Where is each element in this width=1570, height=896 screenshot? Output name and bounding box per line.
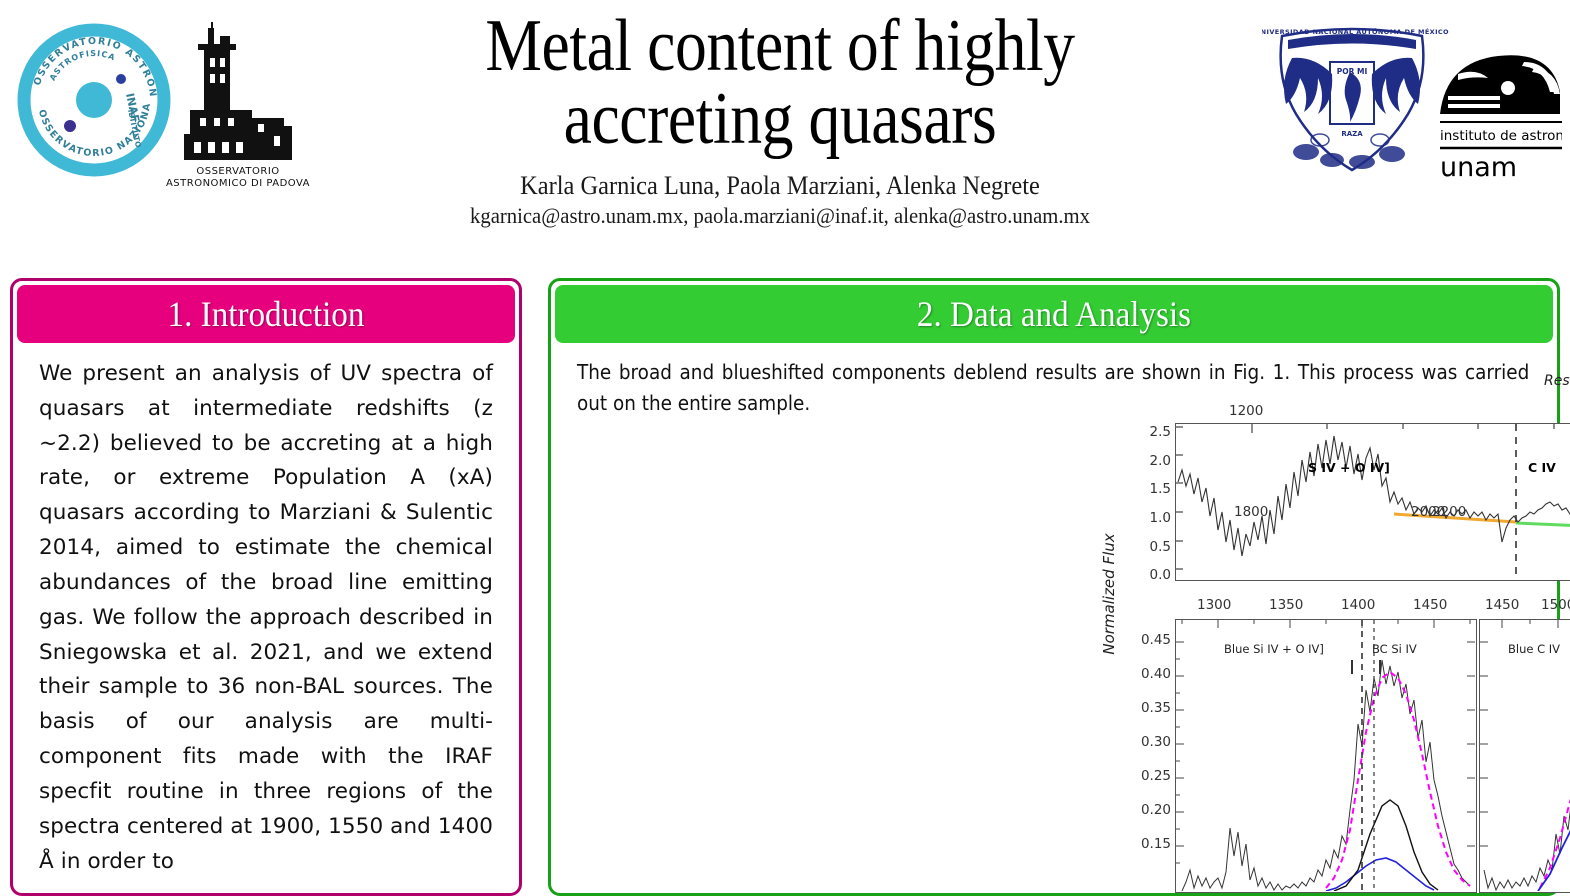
label-civ: C IV <box>1528 460 1556 475</box>
section-introduction-header: 1. Introduction <box>17 285 515 343</box>
logo-left-caption-2: ASTRONOMICO DI PADOVA <box>166 178 310 189</box>
page-title: Metal content of highly accreting quasar… <box>367 4 1193 155</box>
xtick-1300: 1300 <box>1197 597 1231 613</box>
ytick-0.40: 0.40 <box>1125 666 1171 682</box>
top-ytick-1.0: 1.0 <box>1133 510 1171 526</box>
ytick-0.35: 0.35 <box>1125 700 1171 716</box>
poster-body: 1. Introduction We present an analysis o… <box>0 268 1570 896</box>
svg-text:RAZA: RAZA <box>1341 130 1363 138</box>
top-ytick-2.5: 2.5 <box>1133 424 1171 440</box>
xtick-1400: 1400 <box>1341 597 1375 613</box>
top-ytick-2.0: 2.0 <box>1133 453 1171 469</box>
figure-y-axis-label: Normalized Flux <box>1100 533 1118 654</box>
region-1400-plot <box>1176 620 1475 891</box>
ytick-0.25: 0.25 <box>1125 768 1171 784</box>
full-spectrum-plot <box>1176 424 1570 579</box>
xtick-1500: 1500 <box>1541 597 1570 613</box>
svg-text:POR MI: POR MI <box>1337 67 1368 76</box>
section-introduction: 1. Introduction We present an analysis o… <box>10 278 522 896</box>
tickmark-blue-siiv <box>1351 660 1353 674</box>
ytick-0.15: 0.15 <box>1125 836 1171 852</box>
section-data-header: 2. Data and Analysis <box>555 285 1553 343</box>
tickmark-bc-siiv <box>1379 660 1381 674</box>
logo-right-caption-1: instituto de astronomía <box>1440 128 1562 144</box>
panel-region-1400: Blue Si IV + O IV] BC Si IV <box>1175 619 1477 893</box>
logo-left-caption-1: OSSERVATORIO <box>196 166 279 177</box>
section-introduction-body: We present an analysis of UV spectra of … <box>13 347 519 879</box>
top-xtick-label-2200: 2200 <box>1432 504 1466 520</box>
top-xtick-1200: 1200 <box>1229 403 1263 419</box>
ytick-0.30: 0.30 <box>1125 734 1171 750</box>
title-block: Metal content of highly accreting quasar… <box>300 4 1260 229</box>
poster-header: OSSERVATORIO ASTRONOMICO ASTROFISICA OSS… <box>0 0 1570 268</box>
xtick-1450b: 1450 <box>1485 597 1519 613</box>
label-blue-siiv-oiv: Blue Si IV + O IV] <box>1224 642 1324 656</box>
total-fit-trace-1400 <box>1326 672 1470 888</box>
top-xtick-label-1800: 1800 <box>1234 504 1268 520</box>
blue-component-trace-1550 <box>1538 794 1570 891</box>
figure-top-axis-title: Rest Frame λ [Å] <box>1107 373 1570 389</box>
green-continuum-line <box>1516 523 1570 532</box>
author-list: Karla Garnica Luna, Paola Marziani, Alen… <box>329 171 1231 201</box>
observed-spectrum-trace-1550 <box>1484 640 1570 890</box>
xtick-1450: 1450 <box>1413 597 1447 613</box>
panel-region-1550: Blue C IV BC C IV Blue He II BC He II <box>1479 619 1570 893</box>
section-data-title: 2. Data and Analysis <box>917 293 1191 335</box>
svg-text:UNIVERSIDAD NACIONAL AUTÓNOMA: UNIVERSIDAD NACIONAL AUTÓNOMA DE MÉXICO <box>1262 27 1449 36</box>
panel-full-spectrum: S IV + O IV] C IV C III J0020+0740 <box>1175 423 1570 581</box>
figure-1-spectra: Rest Frame λ [Å] Normalized Flux <box>1107 373 1570 893</box>
inaf-padova-logo: OSSERVATORIO ASTRONOMICO ASTROFISICA OSS… <box>8 14 318 189</box>
unam-ia-logo-svg: POR MI RAZA UNIVERSIDAD NACIONAL AUTÓNOM… <box>1262 14 1562 189</box>
ytick-0.20: 0.20 <box>1125 802 1171 818</box>
introduction-paragraph: We present an analysis of UV spectra of … <box>39 357 493 879</box>
ytick-0.45: 0.45 <box>1125 632 1171 648</box>
logo-right-caption-2: unam <box>1440 152 1517 183</box>
top-ytick-1.5: 1.5 <box>1133 481 1171 497</box>
top-ytick-0: 0.0 <box>1133 567 1171 583</box>
region-1550-plot <box>1480 620 1570 891</box>
label-siv-oiv: S IV + O IV] <box>1308 460 1390 475</box>
total-fit-trace-1550 <box>1540 650 1570 890</box>
email-list: kgarnica@astro.unam.mx, paola.marziani@i… <box>329 203 1231 229</box>
observed-spectrum-trace <box>1178 436 1570 556</box>
top-ytick-0.5: 0.5 <box>1133 539 1171 555</box>
section-data-and-analysis: 2. Data and Analysis The broad and blues… <box>548 278 1560 896</box>
xtick-1350: 1350 <box>1269 597 1303 613</box>
poster-root: OSSERVATORIO ASTRONOMICO ASTROFISICA OSS… <box>0 0 1570 896</box>
label-bc-siiv: BC Si IV <box>1372 642 1417 656</box>
section-introduction-title: 1. Introduction <box>168 293 365 335</box>
unam-ia-logo: POR MI RAZA UNIVERSIDAD NACIONAL AUTÓNOM… <box>1262 14 1562 189</box>
inaf-padova-logo-svg: OSSERVATORIO ASTRONOMICO ASTROFISICA OSS… <box>8 14 318 189</box>
label-blue-civ: Blue C IV <box>1508 642 1560 656</box>
